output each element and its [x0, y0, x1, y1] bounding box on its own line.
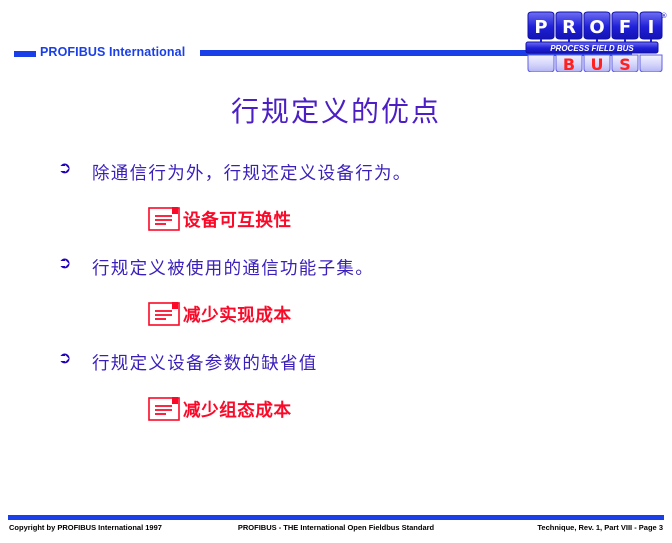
- svg-text:F: F: [619, 17, 631, 38]
- registered-mark-icon: ®: [661, 12, 668, 20]
- document-icon: [148, 397, 180, 422]
- bullet-item: ➲ 行规定义设备参数的缺省值: [0, 340, 672, 387]
- bullet-text: 行规定义被使用的通信功能子集。: [92, 256, 374, 282]
- header-title: PROFIBUS International: [40, 44, 185, 61]
- bullet-item: ➲ 除通信行为外，行规还定义设备行为。: [0, 150, 672, 197]
- slide: PROFIBUS International: [0, 0, 672, 543]
- arrow-bullet-icon: ➲: [58, 253, 80, 275]
- svg-text:B: B: [563, 55, 575, 72]
- profibus-logo: P R O F I ®: [516, 4, 668, 72]
- footer-rule: [8, 515, 664, 520]
- sub-item: 设备可互换性: [0, 197, 672, 245]
- svg-text:O: O: [589, 17, 604, 38]
- logo-top-tiles: P R O F I ®: [528, 12, 668, 39]
- slide-title: 行规定义的优点: [0, 93, 672, 131]
- slide-content: ➲ 除通信行为外，行规还定义设备行为。 设备可互换性 ➲ 行规定义被使用的通信功…: [0, 150, 672, 435]
- svg-text:I: I: [648, 17, 655, 38]
- footer-page-info: Technique, Rev. 1, Part VIII - Page 3: [537, 523, 663, 532]
- sub-text: 设备可互换性: [183, 209, 292, 234]
- sub-text: 减少实现成本: [183, 304, 292, 329]
- svg-text:P: P: [534, 17, 547, 38]
- svg-text:U: U: [591, 55, 604, 72]
- bullet-text: 除通信行为外，行规还定义设备行为。: [92, 161, 412, 187]
- slide-footer: Copyright by PROFIBUS International 1997…: [0, 522, 672, 536]
- dash-icon: [14, 51, 36, 57]
- sub-item: 减少实现成本: [0, 292, 672, 340]
- logo-bottom-tiles: B U S: [528, 55, 662, 72]
- svg-text:S: S: [619, 55, 631, 72]
- logo-bus-band: PROCESS FIELD BUS: [526, 42, 658, 53]
- document-icon: [148, 302, 180, 327]
- bullet-text: 行规定义设备参数的缺省值: [92, 351, 318, 377]
- document-icon: [148, 207, 180, 232]
- bullet-item: ➲ 行规定义被使用的通信功能子集。: [0, 245, 672, 292]
- sub-text: 减少组态成本: [183, 399, 292, 424]
- svg-text:R: R: [562, 17, 576, 38]
- sub-item: 减少组态成本: [0, 387, 672, 435]
- logo-band-text: PROCESS FIELD BUS: [550, 44, 634, 53]
- arrow-bullet-icon: ➲: [58, 348, 80, 370]
- arrow-bullet-icon: ➲: [58, 158, 80, 180]
